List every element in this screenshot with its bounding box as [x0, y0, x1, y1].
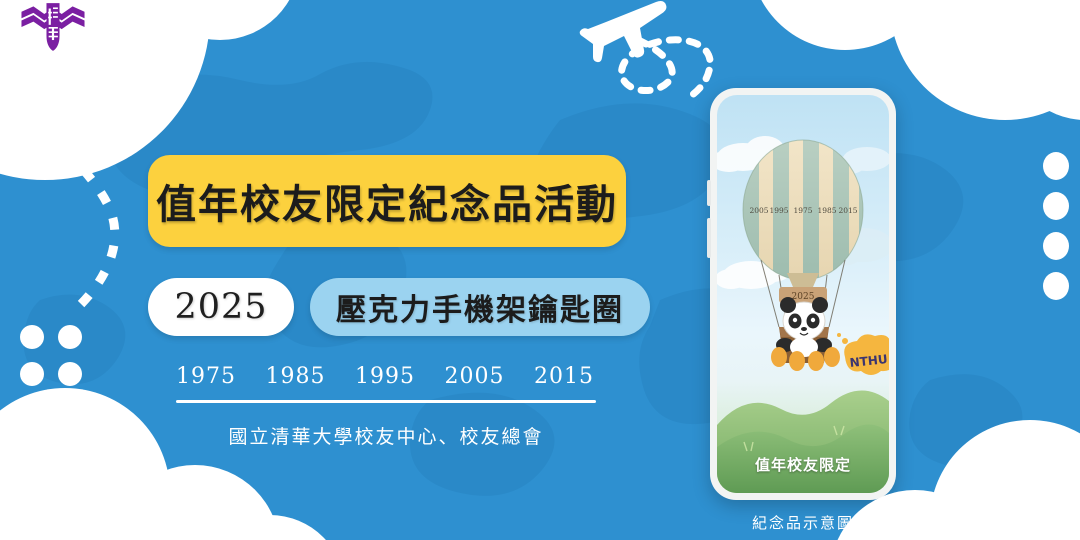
dashed-curve-decoration — [10, 95, 150, 325]
decorative-dot — [1043, 152, 1069, 180]
decorative-dot — [1043, 272, 1069, 300]
phone-screen: 2025 — [717, 95, 889, 493]
page-title: 值年校友限定紀念品活動 — [156, 172, 618, 230]
decorative-dot — [1043, 192, 1069, 220]
phone-mockup: 2025 — [710, 88, 896, 500]
balloon-year-text: 2015 — [838, 206, 857, 215]
balloon-year-text: 1985 — [817, 206, 836, 215]
decorative-dot — [1043, 232, 1069, 260]
balloon-year-text: 1975 — [793, 206, 812, 215]
eligible-year: 1985 — [266, 364, 326, 389]
decorative-dot — [20, 325, 44, 349]
eligible-year: 1995 — [355, 364, 415, 389]
eligible-year: 1975 — [176, 364, 236, 389]
item-name-label: 壓克力手機架鑰匙圈 — [336, 285, 624, 329]
decorative-dot — [20, 362, 44, 386]
nthu-logo-icon — [20, 2, 86, 52]
airplane-icon — [580, 1, 667, 62]
year-badge: 2025 — [148, 278, 294, 336]
phone-side-button — [707, 180, 711, 206]
phone-side-button — [707, 218, 711, 258]
subtitle-row: 2025 壓克力手機架鑰匙圈 — [148, 277, 650, 337]
item-name-badge: 壓克力手機架鑰匙圈 — [310, 278, 650, 336]
eligible-year: 2015 — [534, 364, 594, 389]
organizer-label: 國立清華大學校友中心、校友總會 — [176, 422, 596, 449]
year-badge-label: 2025 — [174, 287, 267, 327]
title-banner: 值年校友限定紀念品活動 — [148, 155, 626, 247]
eligible-year: 2005 — [445, 364, 505, 389]
balloon-year-text: 2005 — [749, 206, 768, 215]
divider-rule — [176, 400, 596, 403]
decorative-dot — [58, 325, 82, 349]
eligible-years-list: 1975 1985 1995 2005 2015 — [176, 364, 594, 389]
panda-illustration — [776, 297, 832, 357]
nthu-speech-bubble: NTHU — [837, 333, 889, 375]
balloon-year-text: 1995 — [769, 206, 788, 215]
poster-canvas: 值年校友限定紀念品活動 2025 壓克力手機架鑰匙圈 1975 1985 199… — [0, 0, 1080, 540]
basket-year-text: 2025 — [792, 292, 815, 302]
screen-caption-text: 值年校友限定 — [717, 454, 889, 475]
decorative-dot — [58, 362, 82, 386]
